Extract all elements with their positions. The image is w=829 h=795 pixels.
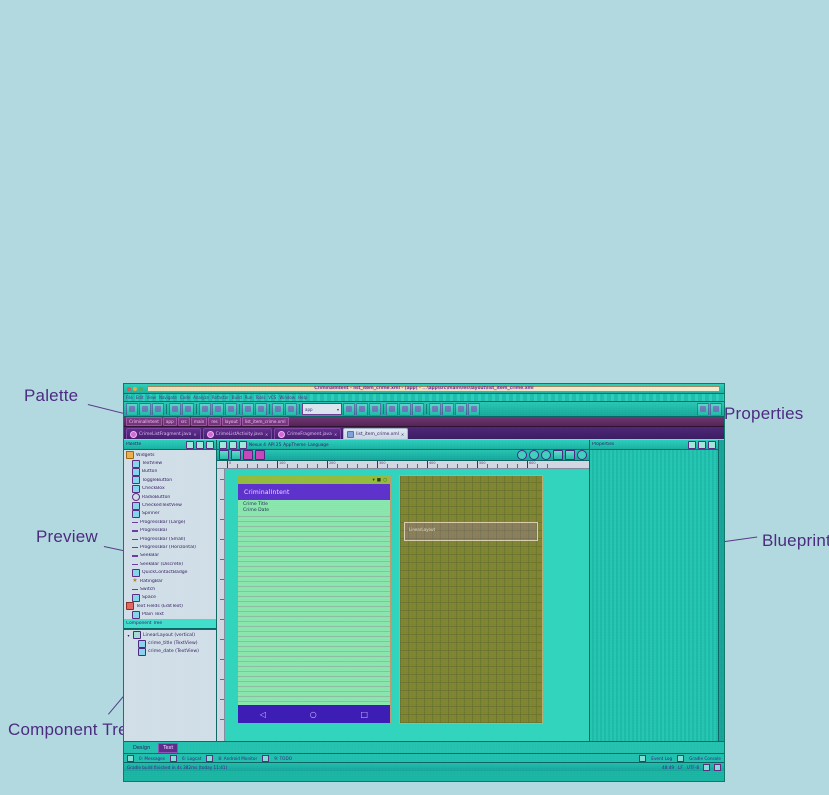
menu-item-file[interactable]: File <box>126 395 133 400</box>
preview-device[interactable]: ▾ ■ ○ CriminalIntent Crime Title Crime D… <box>237 475 391 724</box>
zoom-out-icon[interactable] <box>517 450 527 460</box>
blueprint-view[interactable]: LinearLayout <box>399 475 543 724</box>
palette-item-spinner[interactable]: Spinner <box>126 510 216 518</box>
palette-item-textview[interactable]: TextView <box>126 459 216 467</box>
annotation-preview: Preview <box>36 527 98 547</box>
palette-item-label: RadioButton <box>142 495 170 500</box>
preview-content: Crime Title Crime Date <box>238 500 390 705</box>
palette-group-widgets[interactable]: Widgets <box>126 451 216 459</box>
status-bar: Gradle build finished in 4s 382ms (today… <box>124 762 724 771</box>
palette-item-label: ProgressBar (Large) <box>140 520 185 525</box>
save-icon[interactable] <box>139 403 151 416</box>
palette-group-label: Widgets <box>136 453 155 458</box>
editor-tab-label: CrimeListActivity.java <box>216 432 263 437</box>
blueprint-mode-icon[interactable] <box>229 441 237 449</box>
annotation-component-tree: Component Tree <box>8 720 137 740</box>
palette-item-label: CheckedTextView <box>142 503 182 508</box>
build-icon[interactable] <box>386 403 398 416</box>
toolbar-separator <box>426 404 427 414</box>
zoom-in-icon[interactable] <box>541 450 551 460</box>
palette-item-plain-text[interactable]: Plain Text <box>126 610 216 618</box>
close-icon[interactable]: ✕ <box>193 432 196 437</box>
star-icon: ★ <box>132 578 138 584</box>
chevron-down-icon[interactable]: ▾ <box>126 633 131 638</box>
recents-icon[interactable]: □ <box>361 710 369 719</box>
main-toolbar: app ▾ <box>124 402 724 417</box>
run-icon[interactable] <box>343 403 355 416</box>
left-panel: Palette Widgets TextView Button ToggleBu… <box>124 440 217 741</box>
palette-header: Palette <box>124 440 216 450</box>
device-selector[interactable]: Nexus 4 <box>249 442 266 447</box>
editor-tab-crimelistactivity[interactable]: CrimeListActivity.java ✕ <box>203 428 273 439</box>
palette-item-progressbar[interactable]: ProgressBar <box>126 527 216 535</box>
palette-item-label: CheckBox <box>142 486 165 491</box>
properties-title: Properties <box>592 442 686 447</box>
zoom-fit-icon[interactable] <box>529 450 539 460</box>
palette-item-seekbar[interactable]: SeekBar <box>126 552 216 560</box>
ruler-tick <box>477 461 478 468</box>
back-icon[interactable]: ◁ <box>260 710 266 719</box>
menu-item-navigate[interactable]: Navigate <box>159 395 177 400</box>
editor-tab-list-item-crime[interactable]: list_item_crime.xml ✕ <box>343 428 408 439</box>
tool-button-logcat[interactable]: 6: Logcat <box>182 756 201 761</box>
design-canvas[interactable]: ▾ ■ ○ CriminalIntent Crime Title Crime D… <box>225 469 589 741</box>
back-icon[interactable] <box>272 403 284 416</box>
clock-icon: ○ <box>383 478 387 483</box>
tab-design[interactable]: Design <box>128 743 155 753</box>
lock-icon[interactable] <box>703 764 710 771</box>
list-view-icon[interactable] <box>186 441 194 449</box>
annotation-palette: Palette <box>24 386 78 406</box>
palette-group-text-fields[interactable]: Text Fields (EditText) <box>126 602 216 610</box>
palette-item-label: TextView <box>142 461 162 466</box>
android-monitor-icon[interactable] <box>206 755 213 762</box>
notification-icon[interactable] <box>577 450 587 460</box>
collapse-icon[interactable] <box>206 441 214 449</box>
palette-group-label: Text Fields (EditText) <box>136 604 183 609</box>
breadcrumb-item-src[interactable]: src <box>178 417 190 426</box>
java-file-icon <box>207 431 214 438</box>
palette-item-label: RatingBar <box>140 579 163 584</box>
spinner-icon <box>132 510 140 518</box>
palette-list[interactable]: Widgets TextView Button ToggleButton Che… <box>124 450 216 619</box>
menu-item-help[interactable]: Help <box>298 395 307 400</box>
palette-item-label: SeekBar <box>140 553 159 558</box>
menu-item-tools[interactable]: Tools <box>255 395 265 400</box>
close-icon[interactable]: ✕ <box>265 432 268 437</box>
cut-icon[interactable] <box>199 403 211 416</box>
ruler-tick <box>377 461 378 468</box>
tool-button-gradle-console[interactable]: Gradle Console <box>689 756 721 761</box>
ruler-label-200: 200 <box>329 461 335 465</box>
tree-node-crime-date[interactable]: crime_date (TextView) <box>126 648 216 656</box>
button-icon <box>132 468 140 476</box>
expand-icon[interactable] <box>698 441 706 449</box>
space-icon <box>132 594 140 602</box>
edittext-icon <box>132 611 140 619</box>
messages-icon[interactable] <box>127 755 134 762</box>
theme-selector[interactable]: AppTheme <box>283 442 306 447</box>
tree-node-crime-title[interactable]: crime_title (TextView) <box>126 639 216 647</box>
palette-item-label: QuickContactBadge <box>142 570 188 575</box>
options-icon[interactable] <box>196 441 204 449</box>
folder-icon-red <box>126 602 134 610</box>
java-file-icon <box>130 431 137 438</box>
close-icon[interactable]: ✕ <box>401 432 404 437</box>
toolbar-separator <box>239 404 240 414</box>
breadcrumb-item-criminalintent[interactable]: CriminalIntent <box>126 417 162 426</box>
annotation-properties: Properties <box>724 404 803 424</box>
ruler-label-400: 400 <box>429 461 435 465</box>
palette-item-progressbar-small[interactable]: ProgressBar (Small) <box>126 535 216 543</box>
ruler-label-100: 100 <box>279 461 285 465</box>
tool-button-event-log[interactable]: Event Log <box>651 756 672 761</box>
both-mode-icon[interactable] <box>239 441 247 449</box>
caret-position[interactable]: 48:49 <box>662 765 674 770</box>
tool-button-todo[interactable]: 9: TODO <box>274 756 292 761</box>
textview-icon <box>138 648 146 656</box>
tool-button-android-monitor[interactable]: 8: Android Monitor <box>218 756 257 761</box>
warning-icon[interactable] <box>565 450 575 460</box>
java-file-icon <box>278 431 285 438</box>
event-log-icon[interactable] <box>639 755 646 762</box>
ruler-label-500: 500 <box>479 461 485 465</box>
breadcrumb-item-res[interactable]: res <box>208 417 220 426</box>
editor-tab-label: list_item_crime.xml <box>356 432 399 437</box>
textview-icon <box>132 460 140 468</box>
checkedtextview-icon <box>132 502 140 510</box>
editor-tab-strip: CrimeListFragment.java ✕ CrimeListActivi… <box>124 427 724 440</box>
palette-item-label: Switch <box>140 587 155 592</box>
ruler-tick <box>427 461 428 468</box>
horizontal-ruler: 0 100 200 300 400 500 600 <box>217 461 589 469</box>
preview-app-bar: CriminalIntent <box>238 484 390 500</box>
home-icon[interactable]: ○ <box>310 710 317 719</box>
preview-crime-date: Crime Date <box>243 508 269 513</box>
ruler-tick <box>227 461 228 468</box>
palette-item-progressbar-large[interactable]: ProgressBar (Large) <box>126 518 216 526</box>
ruler-tick <box>527 461 528 468</box>
palette-item-progressbar-horizontal[interactable]: ProgressBar (Horizontal) <box>126 543 216 551</box>
status-message: Gradle build finished in 4s 382ms (today… <box>127 765 227 770</box>
sdk-icon[interactable] <box>442 403 454 416</box>
ruler-tick <box>277 461 278 468</box>
component-tree-title: Component Tree <box>126 621 214 626</box>
profile-icon[interactable] <box>399 403 411 416</box>
palette-title: Palette <box>126 442 184 447</box>
properties-header: Properties <box>590 440 718 450</box>
constraints-icon[interactable] <box>243 450 253 460</box>
copy-icon[interactable] <box>212 403 224 416</box>
properties-list[interactable] <box>590 450 718 741</box>
locale-selector[interactable]: Language <box>308 442 329 447</box>
workspace: Palette Widgets TextView Button ToggleBu… <box>124 440 724 741</box>
tree-node-label: crime_title (TextView) <box>148 641 198 646</box>
ide-window: CriminalIntent - list_item_crime.xml - [… <box>123 383 725 782</box>
component-tree[interactable]: ▾ LinearLayout (vertical) crime_title (T… <box>124 629 216 741</box>
breadcrumb-item-layout[interactable]: layout <box>222 417 241 426</box>
editor-tab-label: CrimeListFragment.java <box>139 432 191 437</box>
xml-file-icon <box>347 431 354 438</box>
palette-item-label: ProgressBar (Small) <box>140 537 185 542</box>
palette-item-ratingbar[interactable]: ★RatingBar <box>126 577 216 585</box>
annotation-blueprint: Blueprint <box>762 531 829 551</box>
palette-item-button[interactable]: Button <box>126 468 216 476</box>
wifi-icon: ▾ <box>373 478 375 483</box>
autoconnect-icon[interactable] <box>255 450 265 460</box>
menu-item-edit[interactable]: Edit <box>136 395 144 400</box>
select-icon[interactable] <box>219 450 229 460</box>
textview-icon <box>138 640 146 648</box>
gradle-icon[interactable] <box>455 403 467 416</box>
debug-icon[interactable] <box>356 403 368 416</box>
palette-item-space[interactable]: Space <box>126 594 216 602</box>
stop-icon[interactable] <box>412 403 424 416</box>
design-mode-icon[interactable] <box>219 441 227 449</box>
editor-tab-crimelistfragment[interactable]: CrimeListFragment.java ✕ <box>126 428 201 439</box>
palette-item-checkedtextview[interactable]: CheckedTextView <box>126 501 216 509</box>
preview-app-title: CriminalIntent <box>244 489 290 496</box>
refresh-icon[interactable] <box>553 450 563 460</box>
device-icon[interactable] <box>468 403 480 416</box>
progressbar-icon <box>132 519 138 525</box>
menu-item-window[interactable]: Window <box>279 395 295 400</box>
replace-icon[interactable] <box>255 403 267 416</box>
settings-icon[interactable] <box>708 441 716 449</box>
palette-item-radiobutton[interactable]: RadioButton <box>126 493 216 501</box>
menu-item-analyze[interactable]: Analyze <box>193 395 209 400</box>
chevron-down-icon[interactable]: ▾ <box>337 407 339 412</box>
avd-icon[interactable] <box>429 403 441 416</box>
pan-icon[interactable] <box>231 450 241 460</box>
radiobutton-icon <box>132 493 140 501</box>
undo-icon[interactable] <box>169 403 181 416</box>
palette-item-label: Plain Text <box>142 612 164 617</box>
settings-icon[interactable] <box>710 403 722 416</box>
checkbox-icon <box>132 485 140 493</box>
run-configuration-selector[interactable]: app ▾ <box>302 403 342 415</box>
design-canvas-wrap: ▾ ■ ○ CriminalIntent Crime Title Crime D… <box>217 469 589 741</box>
toolbar-separator <box>196 404 197 414</box>
device-status-bar: ▾ ■ ○ <box>238 476 390 484</box>
ruler-tick <box>327 461 328 468</box>
tool-button-messages[interactable]: 0: Messages <box>139 756 165 761</box>
palette-item-label: SeekBar (Discrete) <box>140 562 183 567</box>
editor-tab-crimefragment[interactable]: CrimeFragment.java ✕ <box>274 428 341 439</box>
toolbar-separator <box>383 404 384 414</box>
api-selector[interactable]: API 25 <box>268 442 281 447</box>
tab-text[interactable]: Text <box>158 743 178 753</box>
search-icon[interactable] <box>697 403 709 416</box>
menu-item-vcs[interactable]: VCS <box>268 395 276 400</box>
coverage-icon[interactable] <box>369 403 381 416</box>
design-mode-toolbar <box>217 450 589 461</box>
window-title: CriminalIntent - list_item_crime.xml - [… <box>124 386 724 391</box>
forward-icon[interactable] <box>285 403 297 416</box>
paste-icon[interactable] <box>225 403 237 416</box>
design-surface: Nexus 4 API 25 AppTheme Language <box>217 440 589 741</box>
seekbar-icon <box>132 561 138 567</box>
open-icon[interactable] <box>126 403 138 416</box>
menu-bar[interactable]: File Edit View Navigate Code Analyze Ref… <box>124 394 724 402</box>
palette-item-label: ProgressBar (Horizontal) <box>140 545 196 550</box>
palette-item-togglebutton[interactable]: ToggleButton <box>126 476 216 484</box>
palette-item-seekbar-discrete[interactable]: SeekBar (Discrete) <box>126 560 216 568</box>
ruler-label-0: 0 <box>229 461 231 465</box>
vertical-ruler <box>217 469 225 741</box>
page-root: Palette Preview Component Tree Propertie… <box>0 0 829 795</box>
editor-mode-tabs: Design Text <box>124 741 724 753</box>
todo-icon[interactable] <box>262 755 269 762</box>
palette-item-label: Spinner <box>142 511 160 516</box>
filter-icon[interactable] <box>688 441 696 449</box>
menu-item-build[interactable]: Build <box>232 395 242 400</box>
gradle-console-icon[interactable] <box>677 755 684 762</box>
breadcrumb-item-file[interactable]: list_item_crime.xml <box>242 417 289 426</box>
tool-window-bar: 0: Messages 6: Logcat 8: Android Monitor… <box>124 753 724 762</box>
switch-icon <box>132 586 138 592</box>
battery-icon: ■ <box>377 478 381 483</box>
palette-item-label: Space <box>142 595 156 600</box>
redo-icon[interactable] <box>182 403 194 416</box>
blueprint-item-label: LinearLayout <box>409 527 435 532</box>
toolbar-separator <box>269 404 270 414</box>
component-tree-header: Component Tree <box>124 619 216 629</box>
palette-item-switch[interactable]: Switch <box>126 585 216 593</box>
menu-item-view[interactable]: View <box>146 395 156 400</box>
menu-item-refactor[interactable]: Refactor <box>212 395 229 400</box>
tree-node-linearlayout[interactable]: ▾ LinearLayout (vertical) <box>126 631 216 639</box>
properties-panel: Properties <box>589 440 718 741</box>
quickcontact-icon <box>132 569 140 577</box>
preview-nav-bar: ◁ ○ □ <box>238 705 390 723</box>
logcat-icon[interactable] <box>170 755 177 762</box>
progressbar-icon <box>132 536 138 542</box>
palette-item-checkbox[interactable]: CheckBox <box>126 485 216 493</box>
ruler-label-300: 300 <box>379 461 385 465</box>
tree-node-label: crime_date (TextView) <box>148 649 199 654</box>
linearlayout-icon <box>133 631 141 639</box>
seekbar-icon <box>132 553 138 559</box>
blueprint-grid <box>400 476 542 723</box>
breadcrumb-item-main[interactable]: main <box>191 417 207 426</box>
togglebutton-icon <box>132 476 140 484</box>
progressbar-icon <box>132 528 138 534</box>
preview-list-rows <box>238 516 390 705</box>
palette-item-label: ProgressBar <box>140 528 167 533</box>
palette-item-label: Button <box>142 469 157 474</box>
palette-item-label: ToggleButton <box>142 478 172 483</box>
file-encoding[interactable]: UTF-8 <box>687 765 699 770</box>
menu-item-run[interactable]: Run <box>245 395 253 400</box>
breadcrumb-item-app[interactable]: app <box>163 417 177 426</box>
blueprint-linearlayout[interactable]: LinearLayout <box>404 522 538 541</box>
preview-crime-title: Crime Title <box>243 502 268 507</box>
line-separator[interactable]: LF <box>678 765 683 770</box>
menu-item-code[interactable]: Code <box>180 395 190 400</box>
editor-tab-label: CrimeFragment.java <box>287 432 332 437</box>
design-config-toolbar: Nexus 4 API 25 AppTheme Language <box>217 440 589 450</box>
breadcrumb: CriminalIntent app src main res layout l… <box>124 417 724 427</box>
right-scrollbar[interactable] <box>718 440 724 741</box>
progressbar-icon <box>132 544 138 550</box>
find-icon[interactable] <box>242 403 254 416</box>
sync-icon[interactable] <box>152 403 164 416</box>
folder-icon <box>126 451 134 459</box>
toolbar-separator <box>299 404 300 414</box>
vcs-icon[interactable] <box>714 764 721 771</box>
close-icon[interactable]: ✕ <box>334 432 337 437</box>
window-titlebar: CriminalIntent - list_item_crime.xml - [… <box>124 384 724 394</box>
palette-item-quickcontactbadge[interactable]: QuickContactBadge <box>126 568 216 576</box>
tree-node-label: LinearLayout (vertical) <box>143 633 195 638</box>
run-configuration-value: app <box>305 407 335 412</box>
toolbar-separator <box>166 404 167 414</box>
ruler-label-600: 600 <box>529 461 535 465</box>
